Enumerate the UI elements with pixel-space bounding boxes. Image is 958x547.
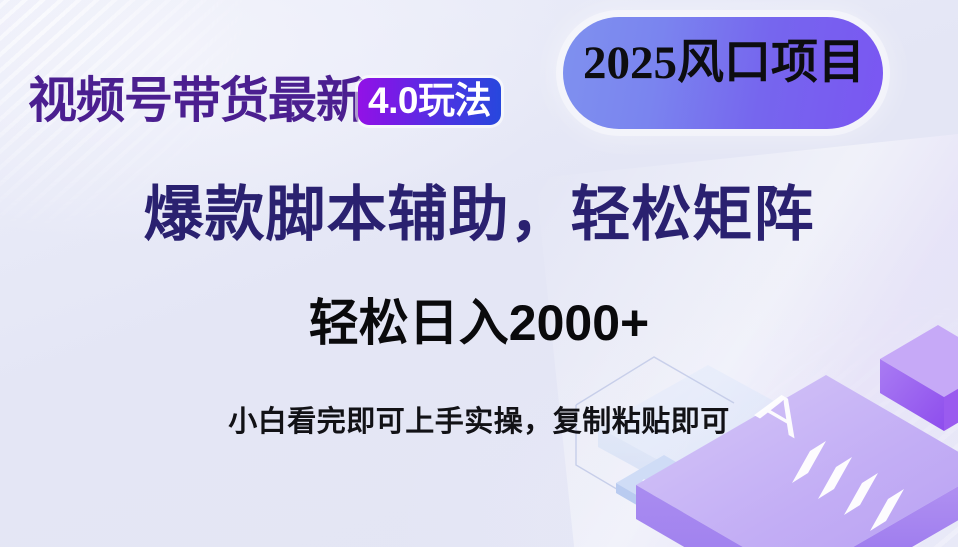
- headline-line-1: 视频号带货最新 4.0玩法: [28, 77, 501, 126]
- promo-banner: A 2025风口项目 视频号带货最新 4.0玩法: [0, 0, 958, 547]
- headline-line-1-text: 视频号带货最新: [28, 77, 364, 126]
- pill-2025-label: 2025风口项目: [583, 40, 913, 87]
- headline-line-2: 爆款脚本辅助，轻松矩阵: [0, 185, 958, 245]
- badge-4-0: 4.0玩法: [358, 78, 501, 125]
- banner-content: 2025风口项目 视频号带货最新 4.0玩法 爆款脚本辅助，轻松矩阵 轻松日入2…: [0, 0, 958, 547]
- subcopy-text: 小白看完即可上手实操，复制粘贴即可: [0, 408, 958, 437]
- headline-line-3: 轻松日入2000+: [0, 298, 958, 348]
